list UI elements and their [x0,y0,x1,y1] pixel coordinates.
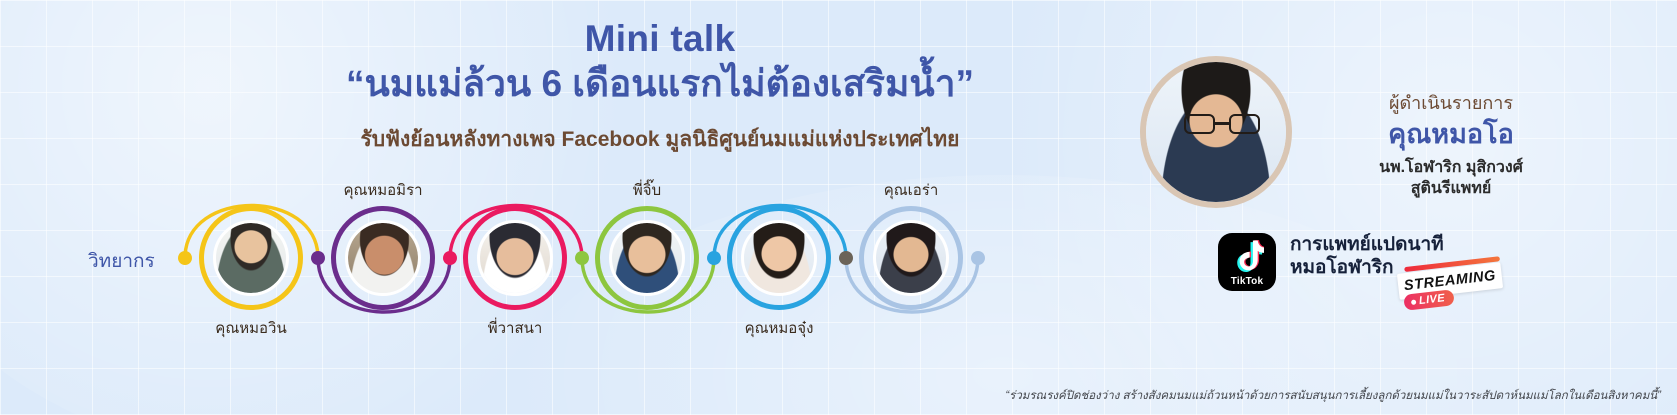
speaker-avatar-2 [348,223,418,293]
speaker-ring-6 [859,206,963,310]
speaker-card-3[interactable]: พี่วาสนา [463,206,567,310]
speaker-photo-frame-4 [609,220,685,296]
speaker-photo-frame-1 [213,220,289,296]
speaker-ring-4 [595,206,699,310]
speaker-photo-frame-3 [477,220,553,296]
host-info-block: ผู้ดำเนินรายการ คุณหมอโอ นพ.โอฬาริก มุสิ… [1296,88,1606,200]
host-nickname: คุณหมอโอ [1296,120,1606,150]
live-label: LIVE [1418,292,1445,307]
speaker-photo-frame-6 [873,220,949,296]
speaker-card-6[interactable]: คุณเอร่า [859,206,963,310]
footer-caption: “ร่วมรณรงค์ปิดช่องว่าง สร้างสังคมนมแม่ถ้… [1005,387,1661,405]
speaker-ring-3 [463,206,567,310]
speaker-name-3: พี่วาสนา [488,316,543,340]
speaker-avatar-3 [480,223,550,293]
host-avatar-ring [1140,56,1292,208]
speaker-card-4[interactable]: พี่จิ๊บ [595,206,699,310]
speaker-ring-2 [331,206,435,310]
headline-block: Mini talk “นมแม่ล้วน 6 เดือนแรกไม่ต้องเส… [120,18,1200,152]
speaker-name-4: พี่จิ๊บ [633,178,661,202]
speaker-name-6: คุณเอร่า [884,178,939,202]
host-specialty: สูตินรีแพทย์ [1296,178,1606,200]
speaker-avatar-1 [216,223,286,293]
tiktok-wordmark: TikTok [1218,276,1276,287]
speaker-ring-5 [727,206,831,310]
title-quote: “นมแม่ล้วน 6 เดือนแรกไม่ต้องเสริมน้ำ” [120,61,1200,107]
speaker-avatar-6 [876,223,946,293]
channel-name-line-1: การแพทย์แปดนาที [1290,233,1444,256]
tiktok-note-glyph [1230,238,1264,276]
host-avatar[interactable] [1140,56,1292,208]
tiktok-icon[interactable]: TikTok [1218,233,1276,291]
speaker-card-1[interactable]: คุณหมอวิน [199,206,303,310]
speaker-name-5: คุณหมอจุ๋ง [745,316,814,340]
speaker-photo-frame-2 [345,220,421,296]
speaker-avatar-4 [612,223,682,293]
event-promo-banner: Mini talk “นมแม่ล้วน 6 เดือนแรกไม่ต้องเส… [0,0,1677,415]
live-dot-icon [1411,299,1417,305]
page-title: Mini talk [120,18,1200,59]
speaker-photo-frame-5 [741,220,817,296]
speaker-name-2: คุณหมอมิรา [343,178,422,202]
host-role-label: ผู้ดำเนินรายการ [1296,88,1606,117]
speakers-row: วิทยากร [0,178,1060,338]
speaker-avatar-5 [744,223,814,293]
title-subtitle: รับฟังย้อนหลังทางเพจ Facebook มูลนิธิศูน… [120,127,1200,152]
speaker-card-2[interactable]: คุณหมอมิรา [331,206,435,310]
speaker-ring-1 [199,206,303,310]
host-full-name: นพ.โอฬาริก มุสิกวงศ์ [1296,157,1606,179]
host-glasses-icon [1184,114,1260,134]
speaker-card-5[interactable]: คุณหมอจุ๋ง [727,206,831,310]
speaker-name-1: คุณหมอวิน [215,316,286,340]
